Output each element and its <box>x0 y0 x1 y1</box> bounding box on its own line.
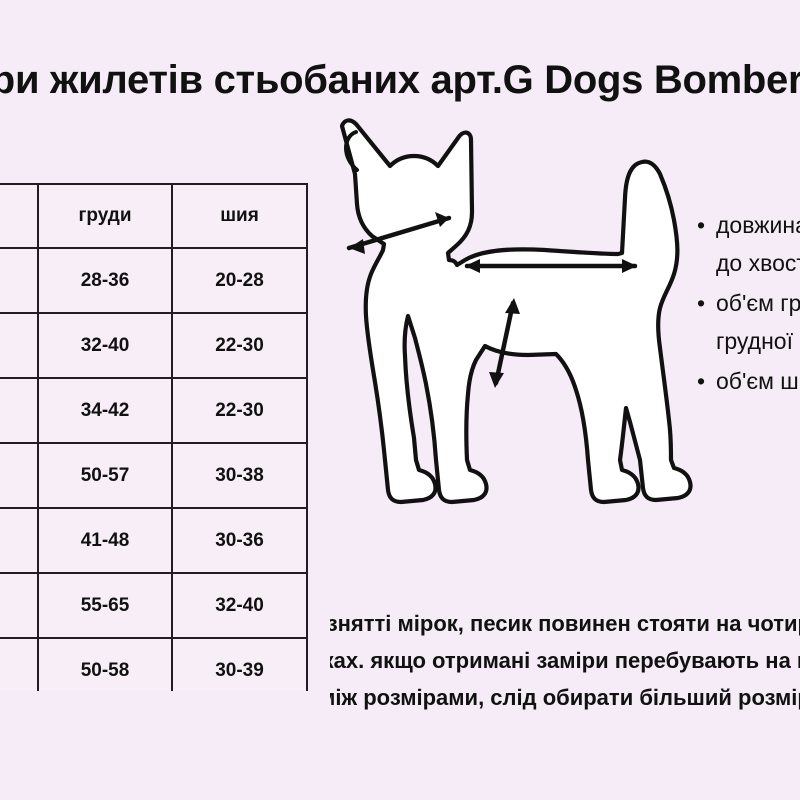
cell-chest: 41-48 <box>38 508 172 573</box>
cell-size <box>0 573 38 638</box>
column-header-neck: шия <box>172 184 307 248</box>
cell-size <box>0 248 38 313</box>
measurement-notes-container: довжина спинки — вимірюється від шиї до … <box>694 206 800 528</box>
cell-chest: 32-40 <box>38 313 172 378</box>
cell-chest: 28-36 <box>38 248 172 313</box>
cell-neck: 30-38 <box>172 443 307 508</box>
size-table-container: розміра груди шия 28-36 20-28 32-40 22-3… <box>0 183 310 691</box>
measurement-notes-list: довжина спинки — вимірюється від шиї до … <box>694 206 800 402</box>
table-row: 41-48 30-36 <box>0 508 307 573</box>
cell-size <box>0 508 38 573</box>
cell-chest: 55-65 <box>38 573 172 638</box>
cell-chest: 50-58 <box>38 638 172 691</box>
size-table-body: 28-36 20-28 32-40 22-30 34-42 22-30 50-5… <box>0 248 307 691</box>
column-header-chest: груди <box>38 184 172 248</box>
footer-note: при знятті мірок, песик повинен стояти н… <box>330 605 800 716</box>
table-row: 28-36 20-28 <box>0 248 307 313</box>
cell-neck: 30-36 <box>172 508 307 573</box>
table-row: 32-40 22-30 <box>0 313 307 378</box>
table-row: 34-42 22-30 <box>0 378 307 443</box>
footer-note-container: при знятті мірок, песик повинен стояти н… <box>330 605 800 723</box>
cell-size <box>0 378 38 443</box>
table-row: 50-57 30-38 <box>0 443 307 508</box>
cell-neck: 20-28 <box>172 248 307 313</box>
dog-illustration <box>330 108 702 533</box>
size-table-head: розміра груди шия <box>0 184 307 248</box>
cell-size <box>0 638 38 691</box>
cell-neck: 30-39 <box>172 638 307 691</box>
footer-line: лапках. якщо отримані заміри перебувають… <box>330 642 800 679</box>
table-row: 50-58 30-39 <box>0 638 307 691</box>
cell-chest: 34-42 <box>38 378 172 443</box>
cell-neck: 32-40 <box>172 573 307 638</box>
size-table: розміра груди шия 28-36 20-28 32-40 22-3… <box>0 183 308 691</box>
cell-chest: 50-57 <box>38 443 172 508</box>
list-item: об'єм грудей — у найширокішому місці гру… <box>716 284 800 360</box>
footer-line: між розмірами, слід обирати більший розм… <box>330 679 800 716</box>
page-title: Заміри жилетів стьобаних арт.G Dogs Bomb… <box>0 50 800 110</box>
list-item: об'єм шиї — у місці нашийника <box>716 362 800 400</box>
footer-line: при знятті мірок, песик повинен стояти н… <box>330 605 800 642</box>
cell-size <box>0 313 38 378</box>
table-row: 55-65 32-40 <box>0 573 307 638</box>
size-chart-page: Заміри жилетів стьобаних арт.G Dogs Bomb… <box>0 0 800 800</box>
cell-neck: 22-30 <box>172 378 307 443</box>
cell-neck: 22-30 <box>172 313 307 378</box>
cell-size <box>0 443 38 508</box>
column-header-size: розміра <box>0 184 38 248</box>
table-header-row: розміра груди шия <box>0 184 307 248</box>
page-title-container: Заміри жилетів стьобаних арт.G Dogs Bomb… <box>0 50 800 112</box>
list-item: довжина спинки — вимірюється від шиї до … <box>716 206 800 282</box>
